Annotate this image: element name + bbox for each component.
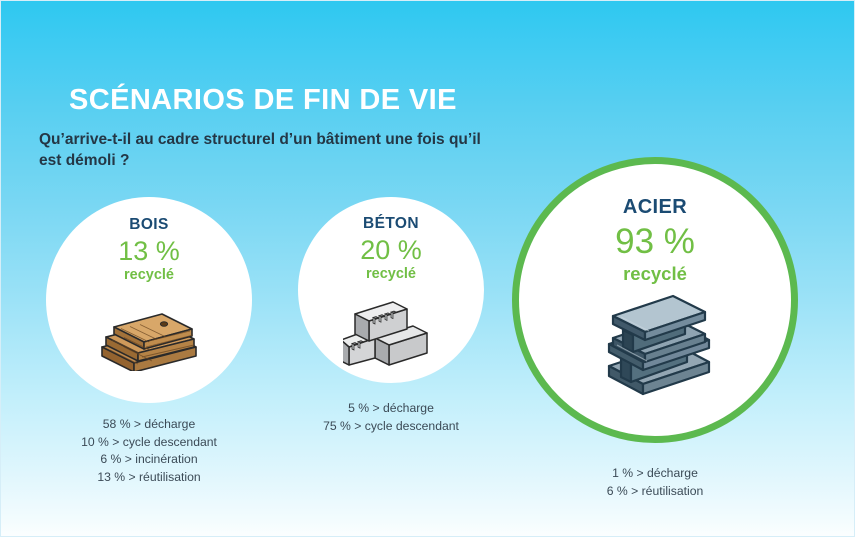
material-percent-bois: 13 % xyxy=(46,236,252,266)
material-circle-bois: BOIS 13 % recyclé xyxy=(46,197,252,403)
material-column-acier: ACIER 93 % recyclé xyxy=(509,157,801,500)
page-subtitle: Qu’arrive-t-il au cadre structurel d’un … xyxy=(39,130,499,172)
stat-item: 6 % > incinération xyxy=(41,451,257,469)
material-stats-beton: 5 % > décharge 75 % > cycle descendant xyxy=(293,400,489,435)
material-percent-acier: 93 % xyxy=(519,222,791,261)
stat-item: 1 % > décharge xyxy=(509,465,801,483)
stat-item: 10 % > cycle descendant xyxy=(41,434,257,452)
material-column-bois: BOIS 13 % recyclé xyxy=(41,197,257,487)
material-name-acier: ACIER xyxy=(519,196,791,218)
stat-item: 5 % > décharge xyxy=(293,400,489,418)
concrete-blocks-icon xyxy=(298,295,484,371)
material-percent-beton: 20 % xyxy=(298,235,484,265)
material-column-beton: BÉTON 20 % recyclé xyxy=(293,197,489,435)
material-recycled-label-beton: recyclé xyxy=(298,266,484,283)
material-circle-text-acier: ACIER 93 % recyclé xyxy=(519,196,791,284)
stat-item: 6 % > réutilisation xyxy=(509,483,801,501)
material-recycled-label-bois: recyclé xyxy=(46,267,252,284)
material-circle-beton: BÉTON 20 % recyclé xyxy=(298,197,484,383)
material-circle-acier: ACIER 93 % recyclé xyxy=(512,157,798,443)
material-name-bois: BOIS xyxy=(46,216,252,233)
material-stats-acier: 1 % > décharge 6 % > réutilisation xyxy=(509,465,801,500)
stat-item: 13 % > réutilisation xyxy=(41,469,257,487)
material-circle-text-beton: BÉTON 20 % recyclé xyxy=(298,215,484,283)
stat-item: 58 % > décharge xyxy=(41,416,257,434)
material-recycled-label-acier: recyclé xyxy=(519,263,791,284)
stat-item: 75 % > cycle descendant xyxy=(293,418,489,436)
material-name-beton: BÉTON xyxy=(298,215,484,232)
page-title: SCÉNARIOS DE FIN DE VIE xyxy=(69,85,629,117)
material-stats-bois: 58 % > décharge 10 % > cycle descendant … xyxy=(41,416,257,487)
steel-beams-icon xyxy=(519,292,791,400)
wood-planks-icon xyxy=(46,301,252,371)
infographic-canvas: SCÉNARIOS DE FIN DE VIE Qu’arrive-t-il a… xyxy=(0,0,855,537)
material-circle-text-bois: BOIS 13 % recyclé xyxy=(46,216,252,284)
